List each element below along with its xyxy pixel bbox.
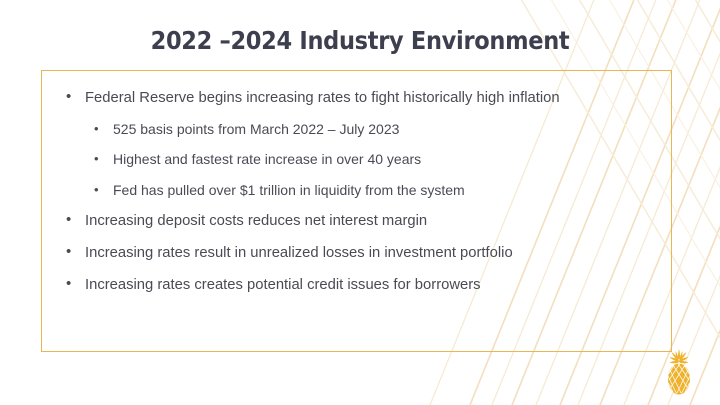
bullet-text: Increasing rates creates potential credi… <box>85 276 662 294</box>
bullet-point-icon: • <box>66 244 85 259</box>
slide-canvas: 2022 –2024 Industry Environment •Federal… <box>0 0 720 405</box>
bullet-point-icon: • <box>94 183 113 196</box>
bullet-item: •Increasing deposit costs reduces net in… <box>61 212 662 230</box>
bullet-point-icon: • <box>94 122 113 135</box>
bullet-point-icon: • <box>66 276 85 291</box>
pineapple-logo <box>659 348 699 398</box>
bullet-item: •Increasing rates creates potential cred… <box>61 276 662 294</box>
bullet-point-icon: • <box>66 89 85 104</box>
bullet-point-icon: • <box>66 212 85 227</box>
bullet-text: Increasing deposit costs reduces net int… <box>85 212 662 230</box>
bullet-list: •Federal Reserve begins increasing rates… <box>41 70 672 352</box>
bullet-item: •Increasing rates result in unrealized l… <box>61 244 662 262</box>
bullet-item: •Fed has pulled over $1 trillion in liqu… <box>61 182 662 200</box>
bullet-item: •Federal Reserve begins increasing rates… <box>61 89 662 107</box>
bullet-item: •525 basis points from March 2022 – July… <box>61 121 662 139</box>
bullet-text: Federal Reserve begins increasing rates … <box>85 89 662 107</box>
bullet-text: Fed has pulled over $1 trillion in liqui… <box>113 182 662 200</box>
bullet-text: Highest and fastest rate increase in ove… <box>113 151 662 169</box>
bullet-point-icon: • <box>94 152 113 165</box>
bullet-item: •Highest and fastest rate increase in ov… <box>61 151 662 169</box>
page-title: 2022 –2024 Industry Environment <box>0 26 720 55</box>
bullet-text: Increasing rates result in unrealized lo… <box>85 244 662 262</box>
bullet-text: 525 basis points from March 2022 – July … <box>113 121 662 139</box>
